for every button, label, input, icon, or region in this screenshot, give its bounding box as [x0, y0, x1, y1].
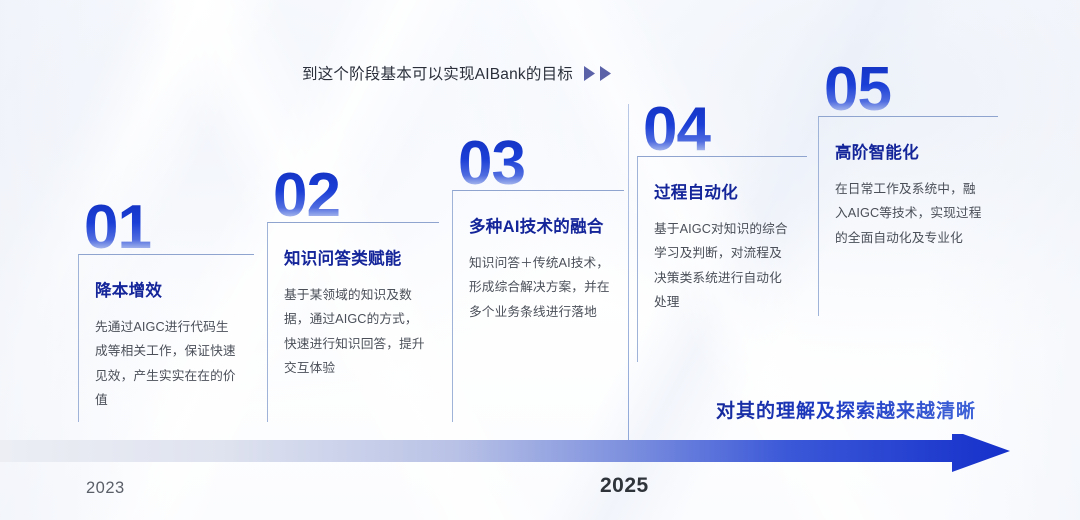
stage-body-03: 知识问答＋传统AI技术，形成综合解决方案，并在多个业务条线进行落地 — [469, 251, 610, 324]
stage-card-02: 知识问答类赋能 基于某领域的知识及数据，通过AIGC的方式，快速进行知识回答，提… — [267, 222, 439, 422]
stage-column-02: 02 知识问答类赋能 基于某领域的知识及数据，通过AIGC的方式，快速进行知识回… — [267, 170, 439, 422]
timeline-year-start: 2023 — [86, 479, 125, 498]
timeline-year-mid: 2025 — [600, 474, 649, 498]
top-caption: 到这个阶段基本可以实现AIBank的目标 — [302, 62, 612, 84]
stage-number-02: 02 — [273, 170, 439, 222]
top-caption-text: 到这个阶段基本可以实现AIBank的目标 — [302, 62, 573, 84]
timeline-arrow — [0, 434, 1080, 484]
stage-body-05: 在日常工作及系统中，融入AIGC等技术，实现过程的全面自动化及专业化 — [835, 177, 984, 250]
stage-title-02: 知识问答类赋能 — [284, 245, 425, 269]
stage-card-03: 多种AI技术的融合 知识问答＋传统AI技术，形成综合解决方案，并在多个业务条线进… — [452, 190, 624, 422]
stage-title-03: 多种AI技术的融合 — [469, 213, 610, 237]
year-divider-line — [628, 104, 629, 450]
stage-number-01: 01 — [84, 202, 254, 254]
stage-body-01: 先通过AIGC进行代码生成等相关工作，保证快速见效，产生实实在在的价值 — [95, 315, 240, 413]
stage-number-04: 04 — [643, 104, 807, 156]
double-chevron-right-icon — [583, 65, 612, 82]
stage-number-03: 03 — [458, 138, 624, 190]
stage-title-05: 高阶智能化 — [835, 139, 984, 163]
stage-title-04: 过程自动化 — [654, 179, 793, 203]
stage-body-04: 基于AIGC对知识的综合学习及判断，对流程及决策类系统进行自动化处理 — [654, 217, 793, 315]
stage-column-03: 03 多种AI技术的融合 知识问答＋传统AI技术，形成综合解决方案，并在多个业务… — [452, 138, 624, 422]
stage-number-05: 05 — [824, 64, 998, 116]
bottom-tagline: 对其的理解及探索越来越清晰 — [716, 396, 976, 423]
stage-body-02: 基于某领域的知识及数据，通过AIGC的方式，快速进行知识回答，提升交互体验 — [284, 283, 425, 381]
stage-column-01: 01 降本增效 先通过AIGC进行代码生成等相关工作，保证快速见效，产生实实在在… — [78, 202, 254, 422]
stage-card-05: 高阶智能化 在日常工作及系统中，融入AIGC等技术，实现过程的全面自动化及专业化 — [818, 116, 998, 316]
stage-card-01: 降本增效 先通过AIGC进行代码生成等相关工作，保证快速见效，产生实实在在的价值 — [78, 254, 254, 422]
infographic-canvas: 到这个阶段基本可以实现AIBank的目标 01 降本增效 先通过AIGC进行代码… — [0, 0, 1080, 520]
stage-title-01: 降本增效 — [95, 277, 240, 301]
stage-column-05: 05 高阶智能化 在日常工作及系统中，融入AIGC等技术，实现过程的全面自动化及… — [818, 64, 998, 316]
stage-card-04: 过程自动化 基于AIGC对知识的综合学习及判断，对流程及决策类系统进行自动化处理 — [637, 156, 807, 362]
stage-column-04: 04 过程自动化 基于AIGC对知识的综合学习及判断，对流程及决策类系统进行自动… — [637, 104, 807, 362]
